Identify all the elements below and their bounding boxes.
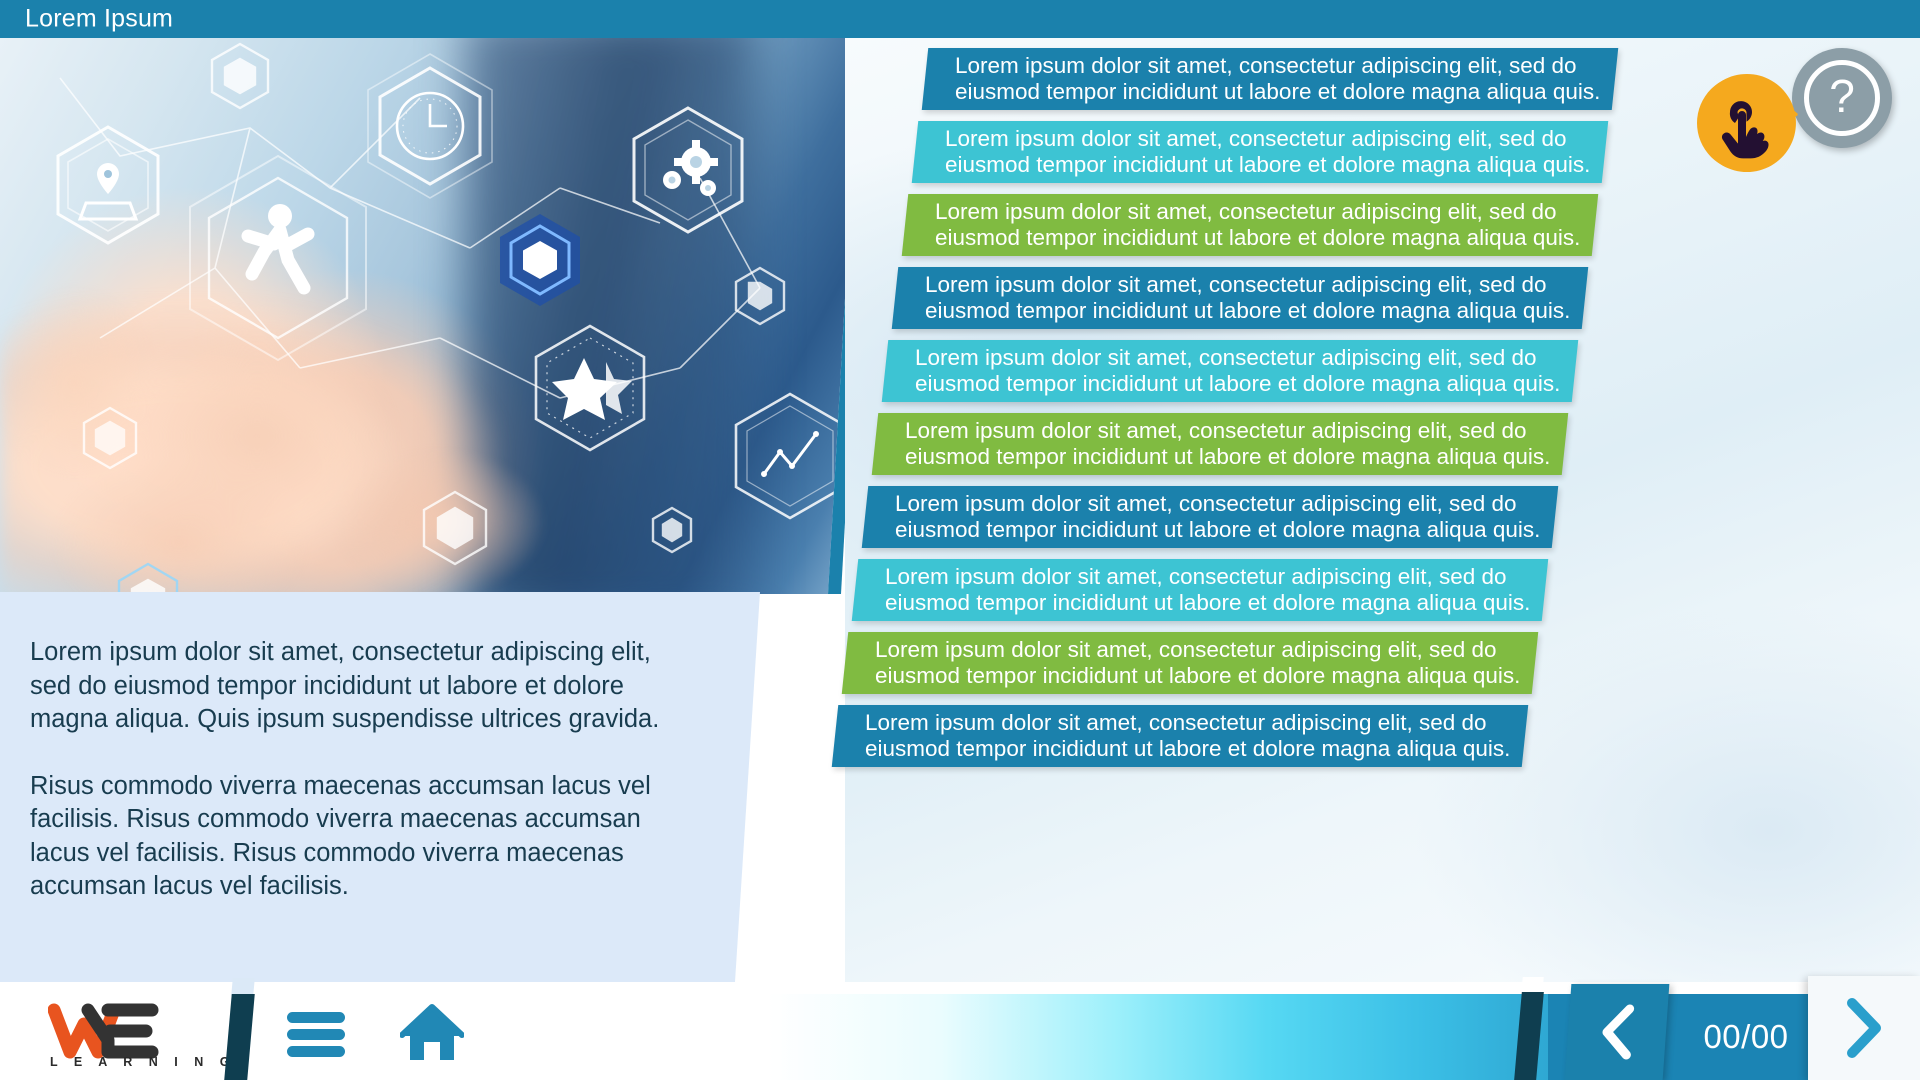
- banner-item[interactable]: Lorem ipsum dolor sit amet, consectetur …: [882, 340, 1579, 402]
- chevron-left-icon: [1593, 1003, 1641, 1061]
- banner-line-2: eiusmod tempor incididunt ut labore et d…: [925, 298, 1573, 325]
- banner-line-1: Lorem ipsum dolor sit amet, consectetur …: [895, 491, 1543, 518]
- banner-list-panel: Lorem ipsum dolor sit amet, consectetur …: [845, 38, 1920, 982]
- banner-item[interactable]: Lorem ipsum dolor sit amet, consectetur …: [842, 632, 1539, 694]
- next-button[interactable]: [1808, 976, 1920, 1080]
- banner-line-2: eiusmod tempor incididunt ut labore et d…: [875, 663, 1523, 690]
- banner-text: Lorem ipsum dolor sit amet, consectetur …: [885, 340, 1575, 402]
- banner-text: Lorem ipsum dolor sit amet, consectetur …: [895, 267, 1585, 329]
- banner-item[interactable]: Lorem ipsum dolor sit amet, consectetur …: [902, 194, 1599, 256]
- banner-line-2: eiusmod tempor incididunt ut labore et d…: [935, 225, 1583, 252]
- help-button[interactable]: ?: [1792, 48, 1892, 148]
- running-person-icon: [190, 156, 366, 360]
- description-paragraph-1: Lorem ipsum dolor sit amet, consectetur …: [30, 636, 670, 737]
- page-counter: 00/00: [1672, 994, 1820, 1080]
- previous-button[interactable]: [1565, 984, 1670, 1080]
- description-panel: Lorem ipsum dolor sit amet, consectetur …: [0, 592, 760, 982]
- pointing-hand-cursor-icon: [1694, 70, 1800, 176]
- banner-list: Lorem ipsum dolor sit amet, consectetur …: [845, 38, 1920, 982]
- banner-line-1: Lorem ipsum dolor sit amet, consectetur …: [905, 418, 1553, 445]
- banner-line-1: Lorem ipsum dolor sit amet, consectetur …: [885, 564, 1533, 591]
- hexagon-node-icon: [500, 214, 580, 306]
- banner-line-1: Lorem ipsum dolor sit amet, consectetur …: [935, 199, 1583, 226]
- location-pin-icon: [58, 127, 158, 243]
- chart-icon: [736, 394, 844, 518]
- home-icon[interactable]: [400, 1004, 464, 1062]
- banner-text: Lorem ipsum dolor sit amet, consectetur …: [835, 705, 1525, 767]
- banner-line-2: eiusmod tempor incididunt ut labore et d…: [915, 371, 1563, 398]
- banner-line-2: eiusmod tempor incididunt ut labore et d…: [945, 152, 1593, 179]
- slide-stage: Lorem Ipsum: [0, 0, 1920, 1080]
- chevron-right-icon: [1839, 996, 1889, 1060]
- star-icon: [536, 326, 644, 450]
- banner-text: Lorem ipsum dolor sit amet, consectetur …: [855, 559, 1545, 621]
- banner-line-1: Lorem ipsum dolor sit amet, consectetur …: [875, 637, 1523, 664]
- question-mark-icon: ?: [1804, 60, 1880, 136]
- banner-text: Lorem ipsum dolor sit amet, consectetur …: [915, 121, 1605, 183]
- hero-image: [0, 38, 860, 594]
- banner-item[interactable]: Lorem ipsum dolor sit amet, consectetur …: [862, 486, 1559, 548]
- logo-subtitle: L E A R N I N G: [50, 1055, 236, 1069]
- banner-item[interactable]: Lorem ipsum dolor sit amet, consectetur …: [912, 121, 1609, 183]
- banner-line-2: eiusmod tempor incididunt ut labore et d…: [865, 736, 1513, 763]
- page-title: Lorem Ipsum: [25, 5, 173, 34]
- description-paragraph-2: Risus commodo viverra maecenas accumsan …: [30, 770, 670, 904]
- banner-line-2: eiusmod tempor incididunt ut labore et d…: [885, 590, 1533, 617]
- banner-line-2: eiusmod tempor incididunt ut labore et d…: [955, 79, 1603, 106]
- banner-item[interactable]: Lorem ipsum dolor sit amet, consectetur …: [832, 705, 1529, 767]
- banner-text: Lorem ipsum dolor sit amet, consectetur …: [925, 48, 1615, 110]
- hexagon-network-graphic: [0, 38, 860, 594]
- gears-icon: [634, 108, 742, 232]
- clock-icon: [368, 54, 492, 198]
- banner-item[interactable]: Lorem ipsum dolor sit amet, consectetur …: [852, 559, 1549, 621]
- banner-text: Lorem ipsum dolor sit amet, consectetur …: [865, 486, 1555, 548]
- banner-line-2: eiusmod tempor incididunt ut labore et d…: [905, 444, 1553, 471]
- banner-line-1: Lorem ipsum dolor sit amet, consectetur …: [865, 710, 1513, 737]
- banner-line-1: Lorem ipsum dolor sit amet, consectetur …: [955, 53, 1603, 80]
- banner-item[interactable]: Lorem ipsum dolor sit amet, consectetur …: [892, 267, 1589, 329]
- banner-text: Lorem ipsum dolor sit amet, consectetur …: [845, 632, 1535, 694]
- header-bar: Lorem Ipsum: [0, 0, 1920, 38]
- banner-line-2: eiusmod tempor incididunt ut labore et d…: [895, 517, 1543, 544]
- banner-item[interactable]: Lorem ipsum dolor sit amet, consectetur …: [872, 413, 1569, 475]
- banner-text: Lorem ipsum dolor sit amet, consectetur …: [875, 413, 1565, 475]
- banner-item[interactable]: Lorem ipsum dolor sit amet, consectetur …: [922, 48, 1619, 110]
- banner-line-1: Lorem ipsum dolor sit amet, consectetur …: [925, 272, 1573, 299]
- banner-line-1: Lorem ipsum dolor sit amet, consectetur …: [945, 126, 1593, 153]
- banner-line-1: Lorem ipsum dolor sit amet, consectetur …: [915, 345, 1563, 372]
- banner-text: Lorem ipsum dolor sit amet, consectetur …: [905, 194, 1595, 256]
- hamburger-menu-icon[interactable]: [285, 1010, 347, 1058]
